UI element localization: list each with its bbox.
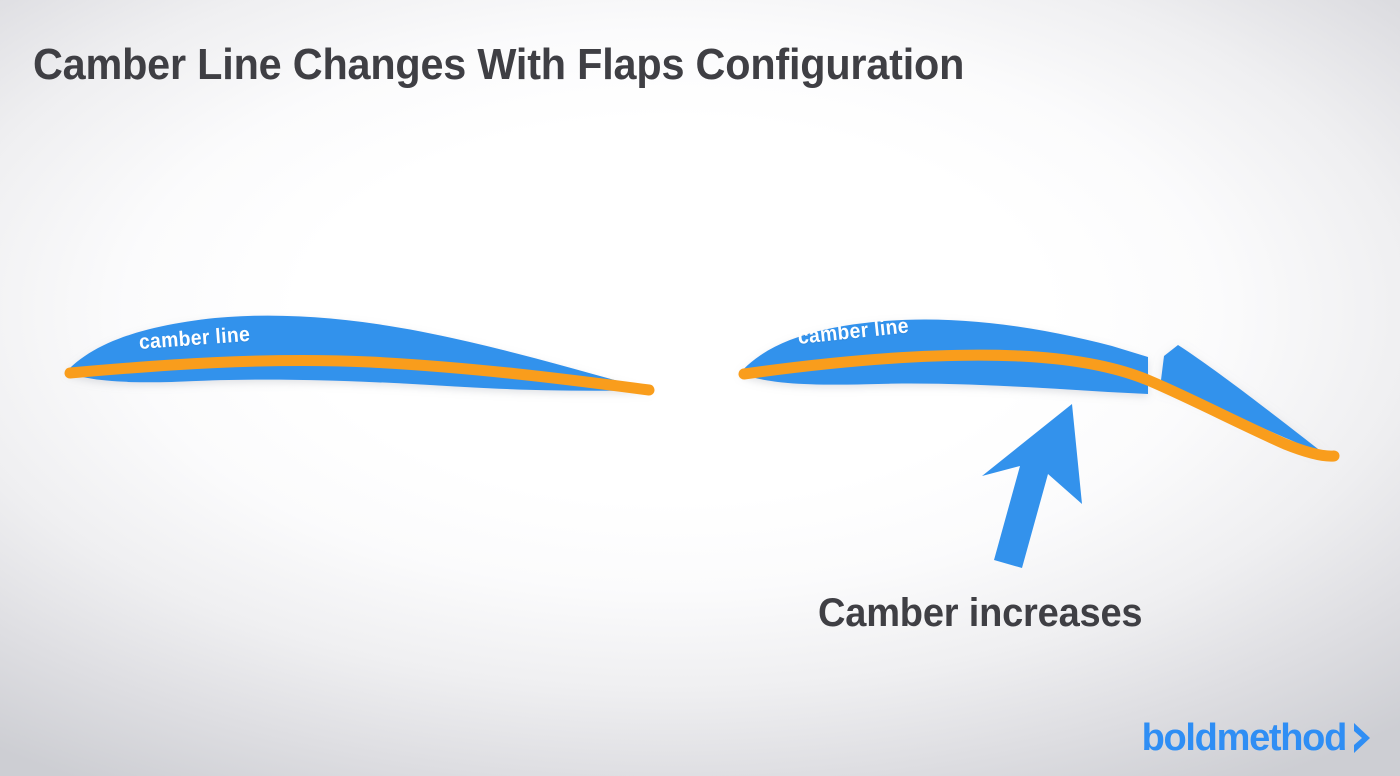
airfoil-illustration — [0, 0, 1400, 776]
callout-label: Camber increases — [818, 588, 1142, 638]
chevron-right-icon — [1352, 721, 1372, 755]
logo-wordmark: boldmethod — [1142, 718, 1346, 758]
diagram-canvas: Camber Line Changes With Flaps Configura… — [0, 0, 1400, 776]
arrow-shape — [982, 404, 1082, 568]
boldmethod-logo[interactable]: boldmethod — [1142, 718, 1372, 758]
camber-increase-arrow — [982, 404, 1082, 568]
